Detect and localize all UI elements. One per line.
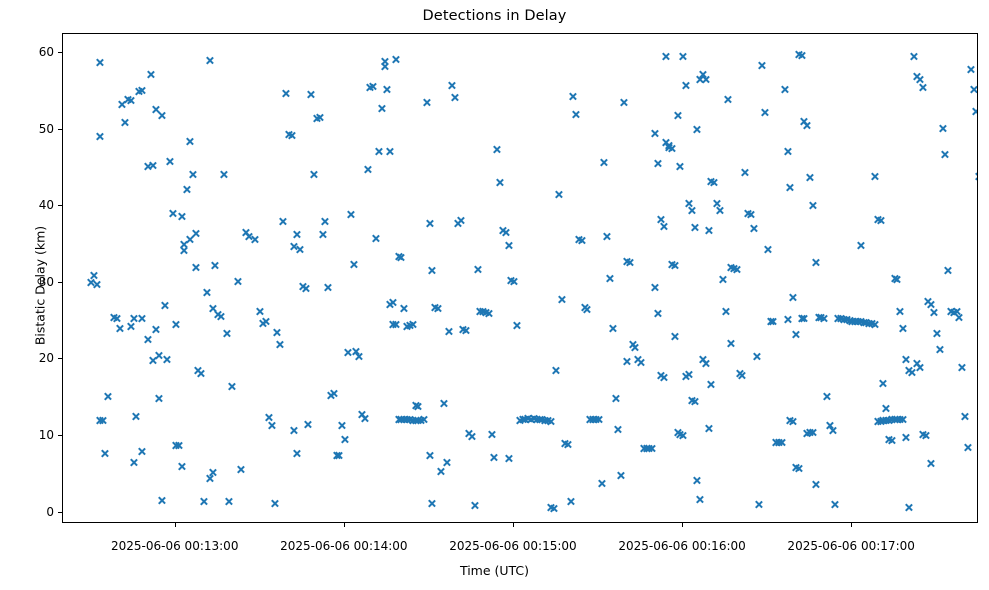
scatter-point bbox=[118, 100, 127, 109]
scatter-point bbox=[411, 416, 420, 425]
scatter-point bbox=[645, 444, 654, 453]
scatter-point bbox=[183, 185, 192, 194]
scatter-point bbox=[557, 295, 566, 304]
scatter-point bbox=[856, 241, 865, 250]
x-tick-mark bbox=[513, 523, 514, 527]
plot-area bbox=[62, 33, 978, 523]
scatter-point bbox=[95, 132, 104, 141]
scatter-point bbox=[819, 314, 828, 323]
scatter-series-detections bbox=[63, 34, 977, 522]
scatter-point bbox=[425, 219, 434, 228]
scatter-point bbox=[746, 210, 755, 219]
scatter-point bbox=[693, 476, 702, 485]
scatter-point bbox=[112, 314, 121, 323]
scatter-point bbox=[757, 61, 766, 70]
scatter-point bbox=[98, 416, 107, 425]
scatter-point bbox=[673, 428, 682, 437]
scatter-point bbox=[281, 89, 290, 98]
scatter-point bbox=[357, 410, 366, 419]
scatter-point bbox=[242, 228, 251, 237]
scatter-point bbox=[214, 310, 223, 319]
scatter-point bbox=[555, 190, 564, 199]
scatter-point bbox=[397, 253, 406, 262]
scatter-point bbox=[628, 340, 637, 349]
scatter-point bbox=[374, 147, 383, 156]
scatter-point bbox=[687, 206, 696, 215]
scatter-point bbox=[245, 232, 254, 241]
scatter-point bbox=[881, 416, 890, 425]
scatter-point bbox=[611, 394, 620, 403]
scatter-point bbox=[904, 366, 913, 375]
scatter-point bbox=[402, 415, 411, 424]
scatter-point bbox=[256, 307, 265, 316]
scatter-point bbox=[402, 322, 411, 331]
scatter-point bbox=[498, 226, 507, 235]
scatter-point bbox=[788, 417, 797, 426]
scatter-point bbox=[464, 429, 473, 438]
scatter-point bbox=[918, 430, 927, 439]
scatter-point bbox=[786, 416, 795, 425]
scatter-point bbox=[966, 65, 975, 74]
scatter-point bbox=[335, 451, 344, 460]
x-tick-mark bbox=[175, 523, 176, 527]
scatter-point bbox=[952, 307, 961, 316]
scatter-point bbox=[222, 329, 231, 338]
chart-figure: Detections in Delay Bistatic Delay (km) … bbox=[0, 0, 989, 590]
scatter-point bbox=[901, 433, 910, 442]
scatter-point bbox=[896, 415, 905, 424]
scatter-point bbox=[445, 327, 454, 336]
scatter-point bbox=[397, 415, 406, 424]
scatter-point bbox=[898, 415, 907, 424]
scatter-point bbox=[772, 438, 781, 447]
scatter-point bbox=[433, 304, 442, 313]
scatter-point bbox=[879, 416, 888, 425]
scatter-point bbox=[149, 356, 158, 365]
scatter-point bbox=[259, 319, 268, 328]
scatter-point bbox=[822, 392, 831, 401]
scatter-point bbox=[941, 150, 950, 159]
scatter-point bbox=[777, 438, 786, 447]
scatter-point bbox=[828, 426, 837, 435]
scatter-point bbox=[428, 266, 437, 275]
scatter-point bbox=[143, 335, 152, 344]
scatter-point bbox=[791, 330, 800, 339]
scatter-point bbox=[898, 324, 907, 333]
scatter-point bbox=[273, 328, 282, 337]
scatter-point bbox=[639, 444, 648, 453]
scatter-point bbox=[177, 212, 186, 221]
scatter-point bbox=[416, 416, 425, 425]
scatter-point bbox=[958, 363, 967, 372]
scatter-point bbox=[442, 458, 451, 467]
scatter-point bbox=[890, 415, 899, 424]
scatter-point bbox=[394, 252, 403, 261]
x-tick-label: 2025-06-06 00:15:00 bbox=[449, 539, 576, 553]
scatter-point bbox=[969, 85, 978, 94]
scatter-point bbox=[185, 235, 194, 244]
scatter-point bbox=[149, 161, 158, 170]
scatter-point bbox=[394, 415, 403, 424]
scatter-point bbox=[143, 162, 152, 171]
scatter-point bbox=[377, 104, 386, 113]
scatter-point bbox=[185, 137, 194, 146]
scatter-point bbox=[786, 183, 795, 192]
scatter-point bbox=[208, 468, 217, 477]
scatter-point bbox=[352, 347, 361, 356]
scatter-point bbox=[780, 85, 789, 94]
scatter-point bbox=[659, 222, 668, 231]
scatter-point bbox=[135, 87, 144, 96]
scatter-point bbox=[726, 339, 735, 348]
scatter-point bbox=[631, 343, 640, 352]
scatter-point bbox=[487, 430, 496, 439]
scatter-point bbox=[180, 240, 189, 249]
scatter-point bbox=[380, 62, 389, 71]
scatter-point bbox=[137, 86, 146, 95]
scatter-point bbox=[493, 145, 502, 154]
scatter-point bbox=[848, 317, 857, 326]
scatter-point bbox=[907, 368, 916, 377]
x-tick-mark bbox=[682, 523, 683, 527]
scatter-point bbox=[546, 417, 555, 426]
scatter-point bbox=[180, 246, 189, 255]
scatter-point bbox=[321, 217, 330, 226]
scatter-point bbox=[783, 147, 792, 156]
scatter-point bbox=[428, 499, 437, 508]
scatter-point bbox=[507, 276, 516, 285]
scatter-point bbox=[718, 275, 727, 284]
scatter-point bbox=[532, 415, 541, 424]
scatter-point bbox=[870, 172, 879, 181]
scatter-point bbox=[349, 260, 358, 269]
scatter-point bbox=[695, 75, 704, 84]
scatter-point bbox=[975, 172, 979, 181]
scatter-point bbox=[797, 51, 806, 60]
scatter-point bbox=[794, 464, 803, 473]
scatter-point bbox=[501, 228, 510, 237]
scatter-point bbox=[343, 348, 352, 357]
scatter-point bbox=[408, 416, 417, 425]
scatter-point bbox=[385, 300, 394, 309]
scatter-point bbox=[95, 416, 104, 425]
scatter-point bbox=[695, 495, 704, 504]
scatter-point bbox=[614, 425, 623, 434]
scatter-point bbox=[219, 170, 228, 179]
scatter-point bbox=[602, 232, 611, 241]
scatter-point bbox=[431, 303, 440, 312]
scatter-point bbox=[817, 313, 826, 322]
scatter-point bbox=[800, 314, 809, 323]
scatter-point bbox=[763, 245, 772, 254]
scatter-point bbox=[462, 326, 471, 335]
x-tick-label: 2025-06-06 00:14:00 bbox=[280, 539, 407, 553]
scatter-point bbox=[569, 92, 578, 101]
scatter-point bbox=[583, 305, 592, 314]
scatter-point bbox=[743, 209, 752, 218]
scatter-point bbox=[137, 314, 146, 323]
scatter-point bbox=[129, 314, 138, 323]
scatter-point bbox=[893, 415, 902, 424]
scatter-point bbox=[766, 317, 775, 326]
scatter-point bbox=[912, 359, 921, 368]
scatter-point bbox=[174, 441, 183, 450]
scatter-point bbox=[876, 417, 885, 426]
scatter-point bbox=[808, 428, 817, 437]
scatter-point bbox=[915, 75, 924, 84]
scatter-point bbox=[388, 298, 397, 307]
scatter-point bbox=[735, 369, 744, 378]
scatter-point bbox=[944, 266, 953, 275]
scatter-point bbox=[346, 210, 355, 219]
scatter-point bbox=[453, 219, 462, 228]
scatter-point bbox=[636, 358, 645, 367]
scatter-point bbox=[912, 72, 921, 81]
scatter-point bbox=[662, 52, 671, 61]
scatter-point bbox=[617, 471, 626, 480]
scatter-point bbox=[845, 316, 854, 325]
scatter-point bbox=[600, 158, 609, 167]
scatter-point bbox=[521, 415, 530, 424]
scatter-point bbox=[340, 435, 349, 444]
scatter-point bbox=[591, 415, 600, 424]
scatter-point bbox=[366, 83, 375, 92]
scatter-point bbox=[803, 429, 812, 438]
scatter-point bbox=[115, 324, 124, 333]
scatter-point bbox=[935, 345, 944, 354]
scatter-point bbox=[693, 125, 702, 134]
scatter-point bbox=[901, 355, 910, 364]
scatter-point bbox=[290, 426, 299, 435]
scatter-point bbox=[732, 265, 741, 274]
scatter-point bbox=[659, 373, 668, 382]
scatter-point bbox=[876, 216, 885, 225]
scatter-point bbox=[267, 421, 276, 430]
scatter-point bbox=[535, 415, 544, 424]
scatter-point bbox=[642, 444, 651, 453]
scatter-point bbox=[605, 274, 614, 283]
scatter-point bbox=[208, 304, 217, 313]
scatter-point bbox=[411, 401, 420, 410]
scatter-point bbox=[963, 443, 972, 452]
scatter-point bbox=[383, 85, 392, 94]
scatter-point bbox=[338, 421, 347, 430]
scatter-point bbox=[893, 275, 902, 284]
scatter-point bbox=[152, 105, 161, 114]
scatter-point bbox=[543, 416, 552, 425]
scatter-point bbox=[622, 257, 631, 266]
scatter-point bbox=[467, 432, 476, 441]
scatter-point bbox=[831, 500, 840, 509]
scatter-point bbox=[123, 95, 132, 104]
scatter-point bbox=[518, 415, 527, 424]
scatter-point bbox=[667, 260, 676, 269]
scatter-point bbox=[495, 178, 504, 187]
scatter-point bbox=[859, 318, 868, 327]
scatter-point bbox=[814, 313, 823, 322]
scatter-point bbox=[577, 236, 586, 245]
scatter-point bbox=[805, 428, 814, 437]
scatter-point bbox=[261, 317, 270, 326]
scatter-point bbox=[309, 170, 318, 179]
scatter-point bbox=[729, 264, 738, 273]
scatter-point bbox=[927, 459, 936, 468]
scatter-point bbox=[202, 288, 211, 297]
scatter-point bbox=[414, 402, 423, 411]
scatter-point bbox=[459, 325, 468, 334]
scatter-point bbox=[194, 366, 203, 375]
scatter-point bbox=[783, 315, 792, 324]
scatter-point bbox=[594, 415, 603, 424]
scatter-point bbox=[211, 261, 220, 270]
scatter-point bbox=[673, 111, 682, 120]
scatter-point bbox=[563, 440, 572, 449]
scatter-point bbox=[977, 191, 978, 200]
scatter-point bbox=[879, 379, 888, 388]
scatter-point bbox=[811, 480, 820, 489]
scatter-point bbox=[284, 130, 293, 139]
scatter-point bbox=[425, 451, 434, 460]
scatter-point bbox=[332, 451, 341, 460]
scatter-point bbox=[622, 357, 631, 366]
scatter-point bbox=[132, 412, 141, 421]
scatter-point bbox=[670, 332, 679, 341]
scatter-point bbox=[87, 278, 96, 287]
scatter-point bbox=[436, 467, 445, 476]
scatter-point bbox=[323, 283, 332, 292]
scatter-point bbox=[478, 307, 487, 316]
scatter-point bbox=[676, 162, 685, 171]
scatter-point bbox=[653, 309, 662, 318]
scatter-point bbox=[873, 417, 882, 426]
scatter-point bbox=[129, 458, 138, 467]
scatter-point bbox=[887, 436, 896, 445]
scatter-point bbox=[738, 371, 747, 380]
scatter-point bbox=[137, 447, 146, 456]
scatter-point bbox=[808, 201, 817, 210]
scatter-point bbox=[400, 304, 409, 313]
scatter-point bbox=[862, 318, 871, 327]
scatter-point bbox=[701, 75, 710, 84]
scatter-point bbox=[109, 313, 118, 322]
scatter-point bbox=[690, 223, 699, 232]
scatter-point bbox=[369, 82, 378, 91]
scatter-point bbox=[166, 157, 175, 166]
x-tick-label: 2025-06-06 00:13:00 bbox=[111, 539, 238, 553]
scatter-point bbox=[270, 499, 279, 508]
scatter-point bbox=[228, 382, 237, 391]
scatter-point bbox=[687, 396, 696, 405]
x-tick-mark bbox=[344, 523, 345, 527]
scatter-point bbox=[608, 324, 617, 333]
scatter-point bbox=[797, 314, 806, 323]
scatter-point bbox=[473, 265, 482, 274]
scatter-point bbox=[560, 439, 569, 448]
scatter-point bbox=[726, 263, 735, 272]
scatter-point bbox=[924, 297, 933, 306]
scatter-point bbox=[755, 500, 764, 509]
scatter-point bbox=[540, 416, 549, 425]
scatter-point bbox=[701, 359, 710, 368]
scatter-point bbox=[380, 57, 389, 66]
scatter-point bbox=[163, 355, 172, 364]
scatter-point bbox=[391, 320, 400, 329]
scatter-point bbox=[538, 415, 547, 424]
scatter-point bbox=[264, 413, 273, 422]
scatter-point bbox=[667, 144, 676, 153]
scatter-point bbox=[873, 215, 882, 224]
scatter-point bbox=[704, 424, 713, 433]
scatter-point bbox=[526, 415, 535, 424]
scatter-point bbox=[276, 340, 285, 349]
scatter-point bbox=[794, 50, 803, 59]
scatter-point bbox=[307, 90, 316, 99]
scatter-point bbox=[414, 416, 423, 425]
scatter-point bbox=[205, 56, 214, 65]
scatter-point bbox=[199, 497, 208, 506]
scatter-point bbox=[171, 320, 180, 329]
scatter-point bbox=[664, 143, 673, 152]
scatter-point bbox=[157, 496, 166, 505]
scatter-point bbox=[292, 230, 301, 239]
scatter-point bbox=[853, 317, 862, 326]
scatter-point bbox=[656, 371, 665, 380]
scatter-point bbox=[388, 320, 397, 329]
scatter-point bbox=[490, 453, 499, 462]
scatter-point bbox=[597, 479, 606, 488]
scatter-point bbox=[881, 404, 890, 413]
scatter-point bbox=[171, 441, 180, 450]
scatter-point bbox=[625, 258, 634, 267]
scatter-point bbox=[707, 177, 716, 186]
scatter-point bbox=[681, 81, 690, 90]
scatter-point bbox=[619, 98, 628, 107]
scatter-point bbox=[101, 449, 110, 458]
scatter-point bbox=[481, 308, 490, 317]
scatter-point bbox=[805, 173, 814, 182]
scatter-point bbox=[126, 96, 135, 105]
scatter-point bbox=[546, 503, 555, 512]
scatter-point bbox=[422, 98, 431, 107]
scatter-point bbox=[157, 111, 166, 120]
scatter-point bbox=[715, 206, 724, 215]
scatter-point bbox=[760, 108, 769, 117]
scatter-point bbox=[512, 321, 521, 330]
scatter-point bbox=[960, 412, 969, 421]
scatter-point bbox=[633, 355, 642, 364]
scatter-point bbox=[197, 369, 206, 378]
scatter-point bbox=[504, 241, 513, 250]
scatter-point bbox=[447, 81, 456, 90]
scatter-point bbox=[177, 462, 186, 471]
scatter-point bbox=[236, 465, 245, 474]
scatter-point bbox=[509, 277, 518, 286]
scatter-point bbox=[126, 322, 135, 331]
scatter-point bbox=[456, 216, 465, 225]
scatter-point bbox=[216, 312, 225, 321]
scatter-point bbox=[552, 366, 561, 375]
scatter-point bbox=[363, 165, 372, 174]
scatter-point bbox=[385, 147, 394, 156]
scatter-point bbox=[287, 131, 296, 140]
scatter-point bbox=[679, 431, 688, 440]
scatter-point bbox=[648, 444, 657, 453]
scatter-point bbox=[95, 58, 104, 67]
scatter-point bbox=[887, 415, 896, 424]
scatter-point bbox=[318, 230, 327, 239]
scatter-point bbox=[724, 95, 733, 104]
scatter-point bbox=[865, 319, 874, 328]
